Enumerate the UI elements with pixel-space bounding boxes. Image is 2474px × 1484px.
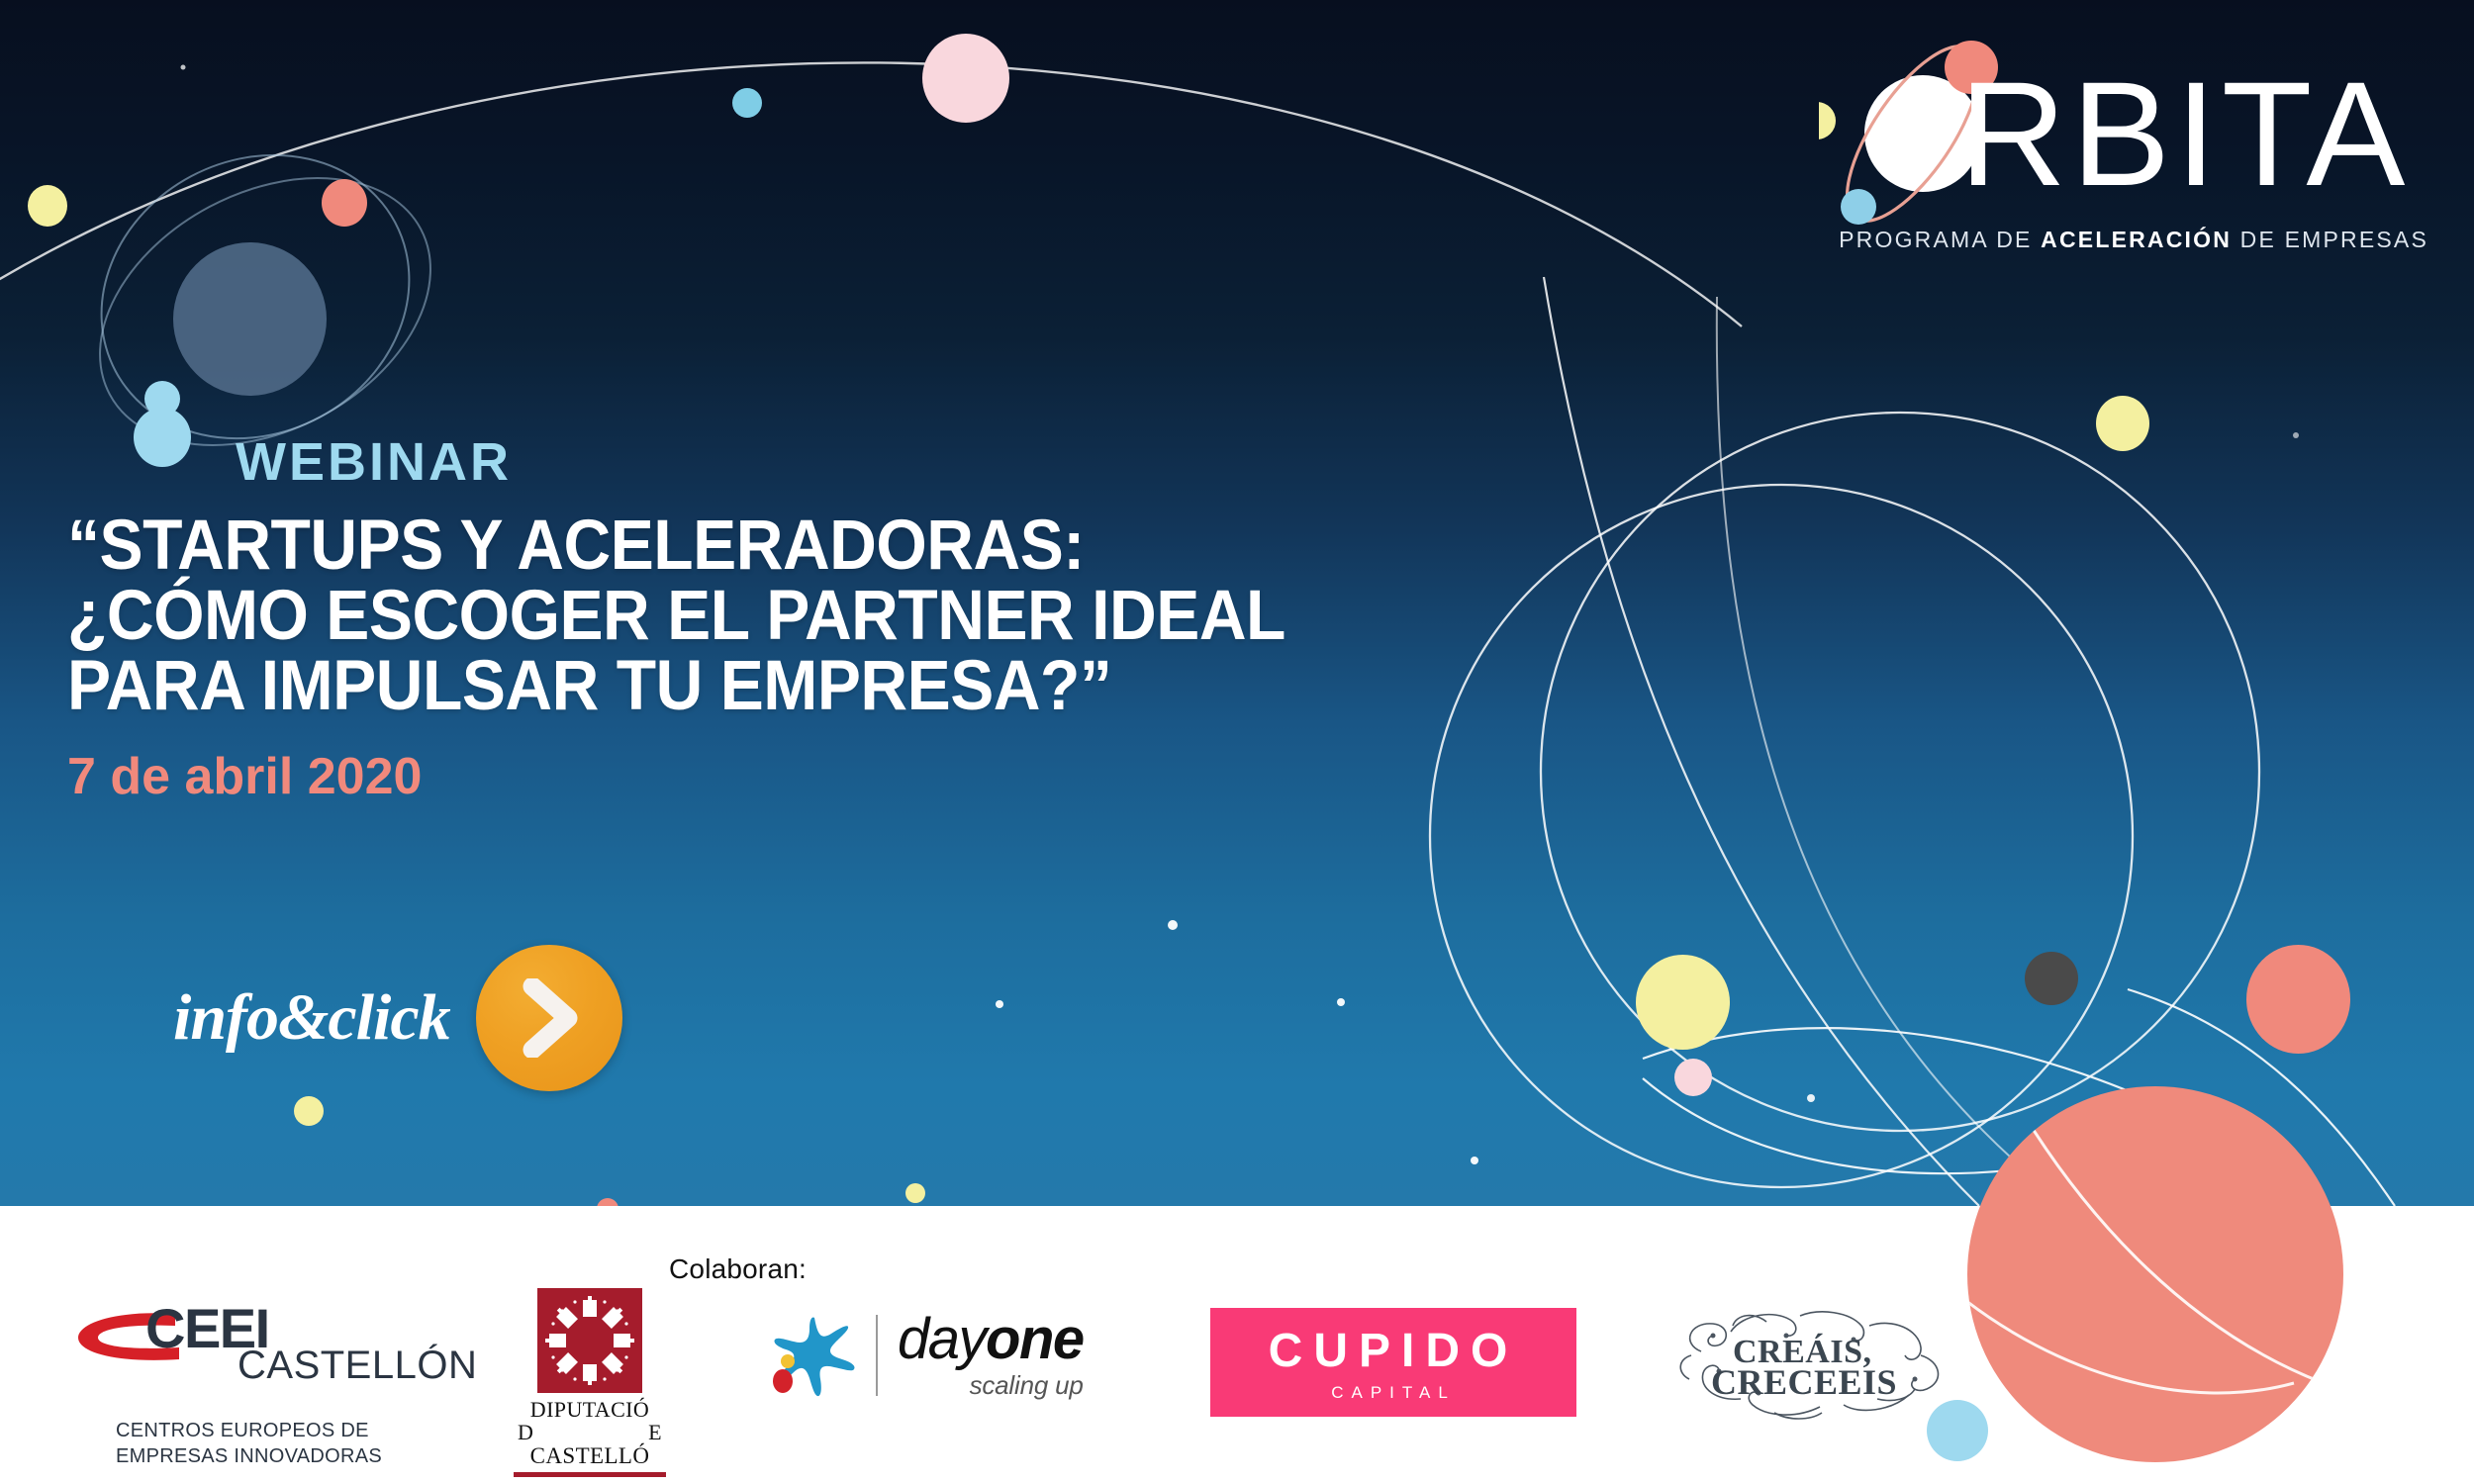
caixabank-star-icon [769, 1310, 860, 1401]
planet-salmon-right [2246, 945, 2350, 1054]
planet-yellow-dot [905, 1183, 925, 1203]
diputacio-line-3: CASTELLÓ [506, 1444, 674, 1468]
ceei-lockup: CEEI CASTELLÓN [84, 1300, 411, 1359]
hero-eyebrow: WEBINAR [236, 435, 1378, 489]
planet-yellow-lower-left [294, 1096, 324, 1126]
diputacio-line-2-right: E [648, 1421, 662, 1443]
star-dot [996, 1000, 1003, 1008]
dayone-word-light: day [898, 1307, 986, 1371]
dayone-word-bold: one [986, 1307, 1084, 1371]
diputacio-line-2-left: D [518, 1421, 533, 1443]
diputacio-line-2: D E [506, 1421, 674, 1443]
star-dot [1807, 1094, 1815, 1102]
hero-title-line-1: “STARTUPS Y ACELERADORAS: [67, 510, 1285, 581]
dayone-divider [876, 1315, 878, 1396]
info-click-button[interactable] [476, 945, 622, 1091]
planet-orbit-line-2 [2007, 1086, 2324, 1383]
right-sweep-path-2 [1717, 297, 2068, 1206]
info-click-label[interactable]: info&click [173, 980, 450, 1056]
dayone-wordmark: dayone [898, 1311, 1084, 1368]
ceei-tagline: CENTROS EUROPEOS DE EMPRESAS INNOVADORAS [116, 1419, 411, 1469]
star-dot [1168, 920, 1178, 930]
dayone-lockup: dayone scaling up [898, 1311, 1084, 1401]
star-dot [181, 65, 186, 70]
right-big-circle-2 [1430, 485, 2133, 1187]
orbita-logo: ORBITA PROGRAMA DE ACELERACIÓN DE EMPRES… [1839, 47, 2434, 253]
logo-cupido-capital[interactable]: CUPIDO CAPITAL [1210, 1286, 1576, 1417]
creais-lockup: CREÁIS, CRECEEIS [1671, 1304, 1958, 1423]
hero-title-line-2: ¿CÓMO ESCOGER EL PARTNER IDEAL [67, 581, 1285, 651]
planet-yellow-small [28, 185, 67, 227]
diputacio-line-1: DIPUTACIÓ [506, 1398, 674, 1421]
tagline-strong: ACELERACIÓN [2041, 227, 2232, 252]
planet-dark-grey [2025, 952, 2078, 1005]
planet-pink-large [922, 34, 1009, 123]
cupido-wordmark: CUPIDO [1244, 1328, 1543, 1375]
hero-date: 7 de abril 2020 [67, 747, 1378, 806]
ceei-tagline-line-1: CENTROS EUROPEOS DE [116, 1419, 411, 1444]
cupido-box: CUPIDO CAPITAL [1210, 1308, 1576, 1417]
ceei-tagline-line-2: EMPRESAS INNOVADORAS [116, 1444, 411, 1470]
orbita-logo-wordmark: ORBITA [1839, 47, 2393, 221]
hero-title-line-3: PARA IMPULSAR TU EMPRESA?” [67, 651, 1285, 721]
hero-title: “STARTUPS Y ACELERADORAS: ¿CÓMO ESCOGER … [67, 510, 1285, 721]
creais-line-2: CRECEEIS [1711, 1361, 1897, 1403]
planet-lightblue-arc [732, 88, 762, 118]
chevron-right-icon [515, 978, 584, 1058]
diputacio-underline [514, 1472, 666, 1477]
logo-dayone[interactable]: dayone scaling up [769, 1286, 1115, 1401]
planet-pink-tiny [1674, 1059, 1712, 1096]
partner-logos-row: CEEI CASTELLÓN CENTROS EUROPEOS DE EMPRE… [0, 1286, 1979, 1477]
diputacio-emblem-icon [537, 1288, 642, 1393]
star-dot [1337, 998, 1345, 1006]
orbita-logo-letters: RBITA [1959, 50, 2411, 217]
star-dot [2293, 432, 2299, 438]
dayone-subline: scaling up [898, 1370, 1084, 1401]
planet-salmon-hero [1967, 1086, 2343, 1462]
planet-salmon-small [322, 179, 367, 227]
logo-ceei-castellon[interactable]: CEEI CASTELLÓN CENTROS EUROPEOS DE EMPRE… [84, 1286, 411, 1469]
planet-yellow-mid-right [1636, 955, 1730, 1050]
info-click-cta[interactable]: info&click [173, 945, 622, 1091]
hero-text-block: WEBINAR “STARTUPS Y ACELERADORAS: ¿CÓMO … [67, 435, 1378, 806]
ceei-subword: CASTELLÓN [238, 1344, 477, 1388]
planet-slate-large [173, 242, 327, 396]
right-sweep-path [1544, 277, 1979, 1206]
logo-diputacio-castello[interactable]: DIPUTACIÓ D E CASTELLÓ [506, 1286, 674, 1477]
orbita-logo-mark: ORBITA [1839, 47, 2393, 221]
webinar-promo-banner: ORBITA PROGRAMA DE ACELERACIÓN DE EMPRES… [0, 0, 2474, 1484]
tagline-suffix: DE EMPRESAS [2232, 227, 2428, 252]
collaborators-label: Colaboran: [669, 1253, 807, 1285]
star-dot [1471, 1157, 1478, 1164]
logo-creais-creceeis[interactable]: CREÁIS, CRECEEIS [1671, 1286, 1968, 1423]
cupido-subline: CAPITAL [1244, 1383, 1543, 1403]
planet-yellow-upper-right [2096, 396, 2149, 451]
